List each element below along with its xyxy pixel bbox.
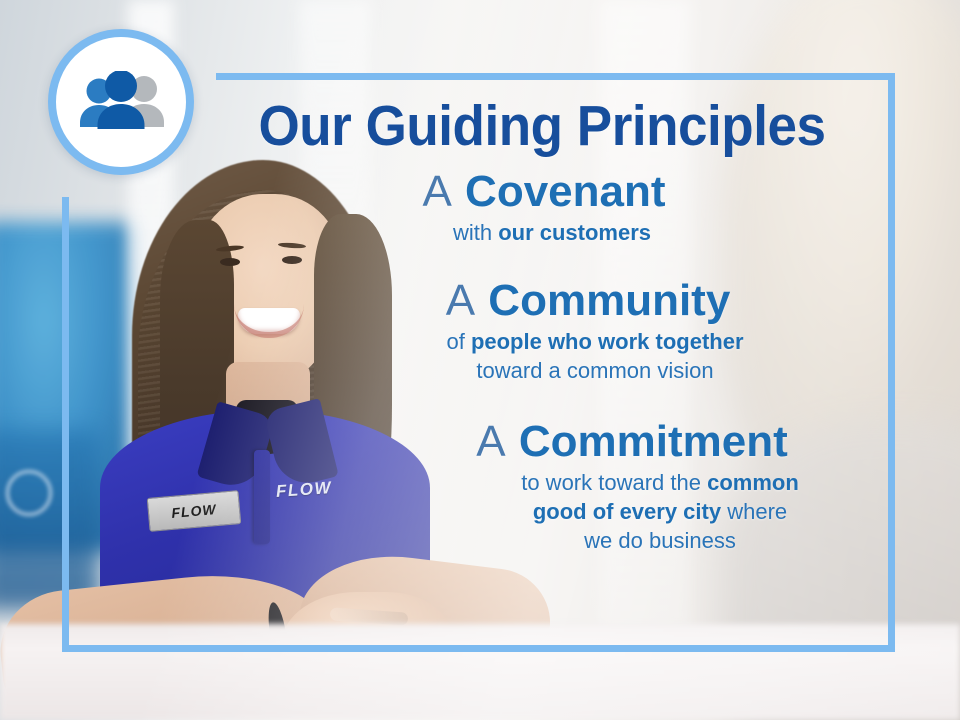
principle-covenant-subtext: with our customers: [200, 219, 884, 248]
commitment-l1-plain: to work toward the: [521, 470, 707, 495]
principle-commitment-heading: A Commitment: [200, 419, 884, 465]
group-people-badge: [48, 29, 194, 175]
blurred-blue-vehicle-lower: [0, 430, 100, 610]
principle-covenant-article: A: [422, 167, 452, 216]
principle-community-line-2: toward a common vision: [306, 357, 884, 386]
principle-commitment: A Commitment to work toward the common g…: [200, 419, 884, 555]
principle-community-article: A: [446, 276, 476, 325]
frame-border-bottom: [62, 645, 895, 652]
principle-community-keyword: Community: [488, 276, 730, 325]
desk-surface: [0, 624, 960, 720]
covenant-l1-bold: our customers: [498, 220, 651, 245]
principle-community-subtext: of people who work together toward a com…: [200, 328, 884, 385]
community-l1-plain: of: [446, 329, 470, 354]
principle-commitment-line-3: we do business: [436, 527, 884, 556]
principle-community: A Community of people who work together …: [200, 278, 884, 385]
principle-community-line-1: of people who work together: [306, 328, 884, 357]
commitment-l2-bold: good of every city: [533, 499, 721, 524]
blurred-badge-mark: [6, 470, 52, 516]
page-title: Our Guiding Principles: [224, 98, 860, 155]
guiding-principles-poster: FLOW FLOW: [0, 0, 960, 720]
covenant-l1-plain: with: [453, 220, 498, 245]
principle-commitment-keyword: Commitment: [519, 417, 788, 466]
principle-commitment-article: A: [476, 417, 506, 466]
principle-covenant-line-1: with our customers: [220, 219, 884, 248]
principle-commitment-line-1: to work toward the common: [436, 469, 884, 498]
principle-commitment-line-2: good of every city where: [436, 498, 884, 527]
principle-covenant: A Covenant with our customers: [200, 169, 884, 248]
commitment-l1-bold: common: [707, 470, 799, 495]
text-content: Our Guiding Principles A Covenant with o…: [200, 78, 884, 638]
principle-covenant-heading: A Covenant: [200, 169, 884, 215]
frame-border-left: [62, 197, 69, 652]
frame-border-right: [888, 73, 895, 652]
group-people-icon: [71, 71, 171, 133]
commitment-l2-plain: where: [721, 499, 787, 524]
principle-community-heading: A Community: [200, 278, 884, 324]
community-l1-bold: people who work together: [471, 329, 744, 354]
principle-commitment-subtext: to work toward the common good of every …: [200, 469, 884, 555]
principle-covenant-keyword: Covenant: [465, 167, 665, 216]
